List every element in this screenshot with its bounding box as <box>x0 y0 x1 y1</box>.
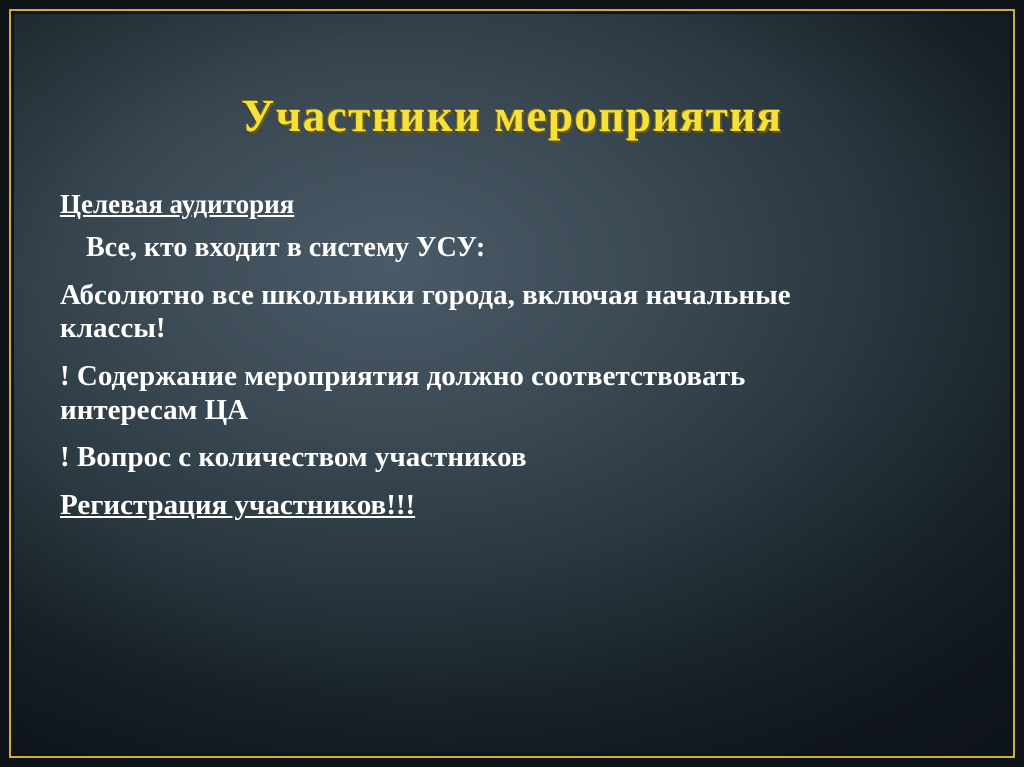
body-heading-target-audience: Целевая аудитория <box>60 189 960 220</box>
body-paragraph-3: ! Вопрос с количеством участников <box>60 441 960 475</box>
slide-content: Участники мероприятия Целевая аудитория … <box>14 14 1010 753</box>
slide-title: Участники мероприятия <box>14 90 1010 142</box>
body-paragraph-2: ! Содержание мероприятия должно соответс… <box>60 360 760 427</box>
slide-body: Целевая аудитория Все, кто входит в сист… <box>60 189 960 523</box>
presentation-slide: Участники мероприятия Целевая аудитория … <box>0 0 1024 767</box>
body-paragraph-1: Абсолютно все школьники города, включая … <box>60 279 850 346</box>
body-final-line-registration: Регистрация участников!!! <box>60 489 960 523</box>
slide-surface: Участники мероприятия Целевая аудитория … <box>14 14 1010 753</box>
body-subheading: Все, кто входит в систему УСУ: <box>86 232 960 264</box>
